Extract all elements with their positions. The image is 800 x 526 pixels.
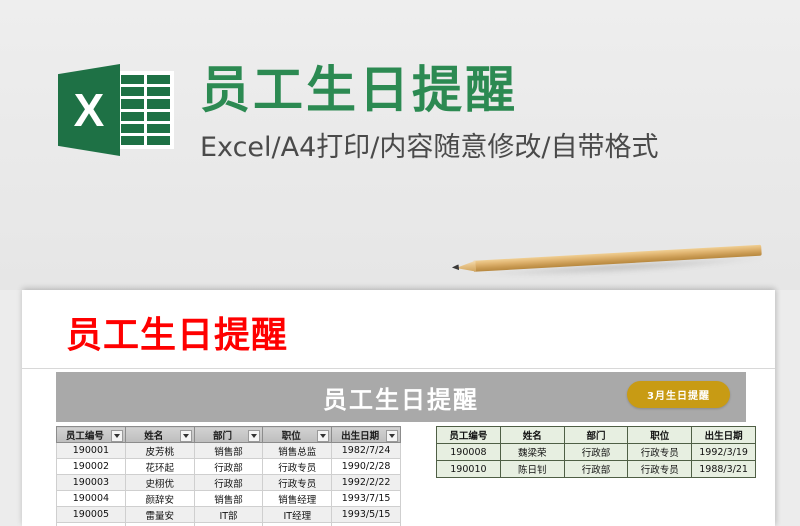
cell-birthdate: 1988/3/21 — [692, 461, 756, 478]
table-row[interactable]: 190005 雷量安 IT部 IT经理 1993/5/15 — [57, 507, 401, 523]
cell-name: 花环起 — [125, 459, 194, 475]
cell-birthdate: 1993/5/15 — [332, 507, 401, 523]
sheet-right-margin — [758, 372, 775, 526]
filter-dropdown-icon[interactable] — [180, 430, 192, 442]
column-header-position: 职位 — [628, 427, 692, 444]
filter-dropdown-icon[interactable] — [248, 430, 260, 442]
table-row[interactable]: 190001 皮芳桃 销售部 销售总监 1982/7/24 — [57, 443, 401, 459]
page-subtitle: Excel/A4打印/内容随意修改/自带格式 — [200, 125, 658, 164]
page-title: 员工生日提醒 — [200, 64, 658, 117]
cell-department: 行政部 — [564, 444, 628, 461]
cell-employee-id: 190010 — [437, 461, 501, 478]
cell-name: 陈日钊 — [500, 461, 564, 478]
cell-position: 销售经理 — [263, 491, 332, 507]
column-label: 职位 — [282, 428, 313, 442]
cell-name: 韩默川 — [125, 523, 194, 526]
cell-employee-id: 190003 — [57, 475, 126, 491]
filter-dropdown-icon[interactable] — [317, 430, 329, 442]
birthday-reminder-badge[interactable]: 3月生日提醒 — [627, 381, 730, 408]
cell-name: 雷量安 — [125, 507, 194, 523]
employee-table[interactable]: 员工编号 姓名 部门 职位 — [56, 426, 401, 526]
column-label: 部门 — [213, 428, 244, 442]
excel-logo-letter: X — [58, 64, 120, 156]
cell-position: IT经理 — [263, 507, 332, 523]
cell-position: 产品经理 — [263, 523, 332, 526]
cell-department: 销售部 — [194, 491, 263, 507]
table-row[interactable]: 190002 花环起 行政部 行政专员 1990/2/28 — [57, 459, 401, 475]
excel-grid-cells — [121, 75, 170, 145]
cell-department: 行政部 — [194, 459, 263, 475]
sheet-banner: 员工生日提醒 3月生日提醒 — [56, 372, 746, 422]
column-header-department[interactable]: 部门 — [194, 427, 263, 443]
cell-position: 行政专员 — [263, 459, 332, 475]
cell-employee-id: 190006 — [57, 523, 126, 526]
filter-dropdown-icon[interactable] — [386, 430, 398, 442]
spreadsheet-area[interactable]: 员工生日提醒 3月生日提醒 员工编号 姓名 部门 — [56, 372, 775, 526]
brand-row: X 员工生日提醒 Excel/A4打印/内容随意修改/自带格式 — [58, 58, 658, 164]
cell-employee-id: 190004 — [57, 491, 126, 507]
document-preview-card[interactable]: 员工生日提醒 员工生日提醒 3月生日提醒 员工编号 姓名 部门 — [22, 290, 775, 526]
column-header-birthdate: 出生日期 — [692, 427, 756, 444]
column-label: 员工编号 — [66, 428, 116, 442]
cell-department: IT部 — [194, 507, 263, 523]
cell-position: 行政专员 — [628, 444, 692, 461]
column-header-name: 姓名 — [500, 427, 564, 444]
cell-birthdate: 1992/3/19 — [692, 444, 756, 461]
cell-birthdate: 1982/7/24 — [332, 443, 401, 459]
filter-dropdown-icon[interactable] — [111, 430, 123, 442]
table-header-row: 员工编号 姓名 部门 职位 — [57, 427, 401, 443]
table-row[interactable]: 190004 颜辞安 销售部 销售经理 1993/7/15 — [57, 491, 401, 507]
column-label: 姓名 — [144, 428, 175, 442]
cell-department: 行政部 — [194, 475, 263, 491]
document-red-title: 员工生日提醒 — [66, 306, 288, 358]
cell-birthdate: 1992/2/22 — [332, 475, 401, 491]
cell-department: 销售部 — [194, 443, 263, 459]
column-header-department: 部门 — [564, 427, 628, 444]
excel-logo-icon: X — [58, 58, 176, 162]
cell-employee-id: 190001 — [57, 443, 126, 459]
cell-position: 销售总监 — [263, 443, 332, 459]
cell-position: 行政专员 — [263, 475, 332, 491]
table-row[interactable]: 190003 史栩优 行政部 行政专员 1992/2/22 — [57, 475, 401, 491]
cell-birthdate: 1993/8/14 — [332, 523, 401, 526]
birthday-reminder-table[interactable]: 员工编号 姓名 部门 职位 出生日期 190008 魏梁荣 行政部 行政专员 1… — [436, 426, 756, 478]
title-block: 员工生日提醒 Excel/A4打印/内容随意修改/自带格式 — [200, 58, 658, 164]
column-label: 出生日期 — [341, 428, 391, 442]
document-divider — [22, 368, 775, 369]
cell-birthdate: 1993/7/15 — [332, 491, 401, 507]
table-row[interactable]: 190008 魏梁荣 行政部 行政专员 1992/3/19 — [437, 444, 756, 461]
cell-employee-id: 190002 — [57, 459, 126, 475]
cell-name: 史栩优 — [125, 475, 194, 491]
table-row[interactable]: 190010 陈日钊 行政部 行政专员 1988/3/21 — [437, 461, 756, 478]
cell-employee-id: 190008 — [437, 444, 501, 461]
column-header-position[interactable]: 职位 — [263, 427, 332, 443]
pencil-tip — [452, 264, 459, 270]
column-header-name[interactable]: 姓名 — [125, 427, 194, 443]
cell-position: 行政专员 — [628, 461, 692, 478]
cell-department: 行政部 — [564, 461, 628, 478]
cell-name: 魏梁荣 — [500, 444, 564, 461]
column-header-birthdate[interactable]: 出生日期 — [332, 427, 401, 443]
cell-birthdate: 1990/2/28 — [332, 459, 401, 475]
cell-employee-id: 190005 — [57, 507, 126, 523]
column-header-employee-id[interactable]: 员工编号 — [57, 427, 126, 443]
column-header-employee-id: 员工编号 — [437, 427, 501, 444]
cell-name: 皮芳桃 — [125, 443, 194, 459]
cell-department: 产品部 — [194, 523, 263, 526]
table-header-row: 员工编号 姓名 部门 职位 出生日期 — [437, 427, 756, 444]
table-row[interactable]: 190006 韩默川 产品部 产品经理 1993/8/14 — [57, 523, 401, 526]
cell-name: 颜辞安 — [125, 491, 194, 507]
